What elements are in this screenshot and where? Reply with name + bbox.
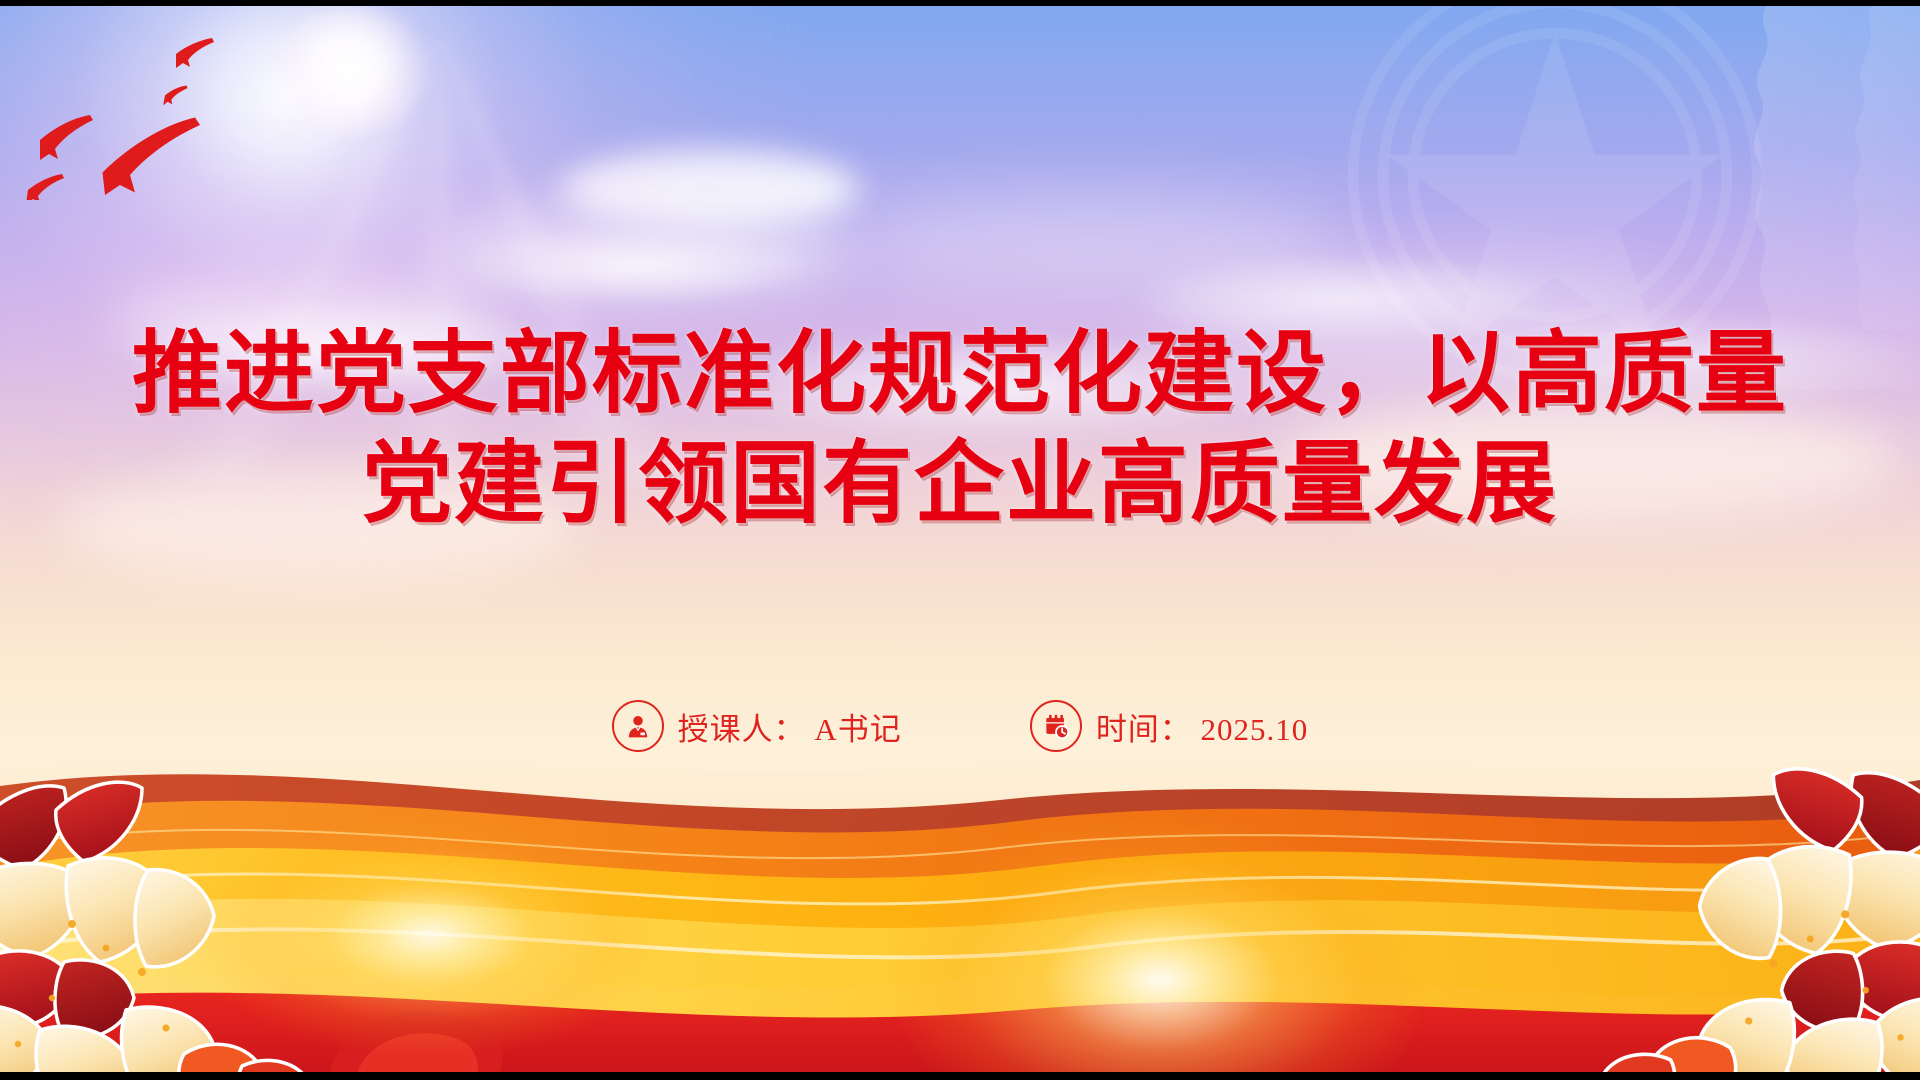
slide-meta-row: 授课人： A书记 时间： 2025.10 — [0, 700, 1920, 752]
title-line-2: 党建引领国有企业高质量发展 — [0, 430, 1920, 540]
flying-birds-icon — [0, 0, 420, 200]
slide-title: 推进党支部标准化规范化建设，以高质量 党建引领国有企业高质量发展 — [0, 320, 1920, 540]
presenter-person-icon — [612, 700, 664, 752]
presenter-meta-item: 授课人： A书记 — [612, 700, 902, 752]
letterbox-bottom-bar — [0, 1072, 1920, 1080]
date-label: 时间： 2025.10 — [1096, 704, 1309, 749]
calendar-clock-icon — [1030, 700, 1082, 752]
title-line-1: 推进党支部标准化规范化建设，以高质量 — [0, 320, 1920, 430]
letterbox-top-bar — [0, 0, 1920, 6]
presenter-label: 授课人： A书记 — [678, 704, 902, 749]
peony-flower-left-icon — [0, 710, 350, 1080]
ribbon-center-glow — [900, 820, 1420, 1080]
presentation-slide: 推进党支部标准化规范化建设，以高质量 党建引领国有企业高质量发展 授课人： A书… — [0, 0, 1920, 1080]
date-meta-item: 时间： 2025.10 — [1030, 700, 1309, 752]
